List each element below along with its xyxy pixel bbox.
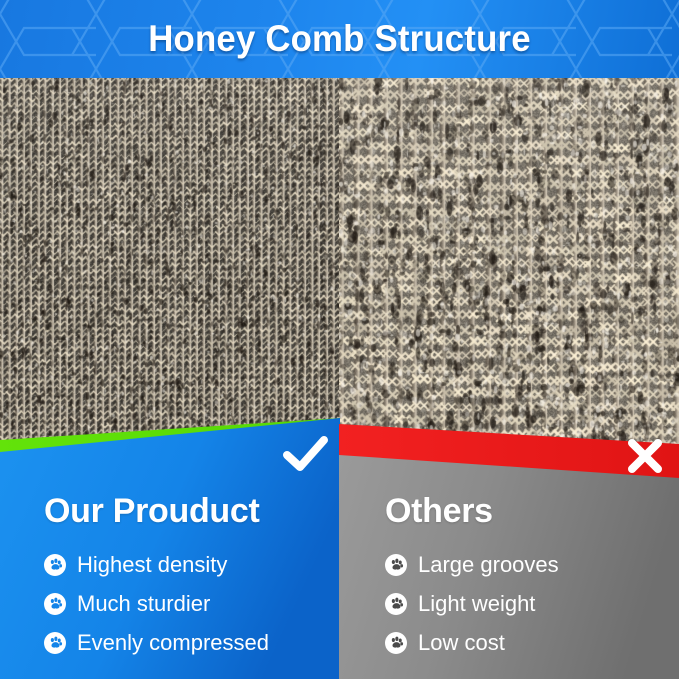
header-title: Honey Comb Structure [20, 0, 658, 78]
list-item: Light weight [385, 584, 559, 623]
paw-icon [385, 593, 407, 615]
list-item: Evenly compressed [44, 623, 269, 662]
list-item: Large grooves [385, 545, 559, 584]
list-item-label: Large grooves [418, 552, 559, 578]
our-product-text-block: Our Prouduct Highest density [44, 492, 269, 662]
list-item: Highest density [44, 545, 269, 584]
x-icon [625, 436, 665, 476]
list-item-label: Evenly compressed [77, 630, 269, 656]
paw-icon [44, 593, 66, 615]
list-item-label: Low cost [418, 630, 505, 656]
check-icon [283, 436, 329, 476]
paw-icon [385, 632, 407, 654]
paw-icon [44, 632, 66, 654]
paw-icon [44, 554, 66, 576]
list-item-label: Light weight [418, 591, 535, 617]
others-bullet-list: Large grooves Light weight [385, 545, 559, 662]
list-item: Low cost [385, 623, 559, 662]
others-title: Others [385, 492, 559, 531]
list-item-label: Highest density [77, 552, 227, 578]
header-banner: Honey Comb Structure [0, 0, 679, 78]
infographic-root: Honey Comb Structure [0, 0, 679, 679]
paw-icon [385, 554, 407, 576]
list-item: Much sturdier [44, 584, 269, 623]
our-product-title: Our Prouduct [44, 492, 269, 531]
our-product-bullet-list: Highest density Much sturdier [44, 545, 269, 662]
list-item-label: Much sturdier [77, 591, 210, 617]
others-text-block: Others Large grooves [385, 492, 559, 662]
